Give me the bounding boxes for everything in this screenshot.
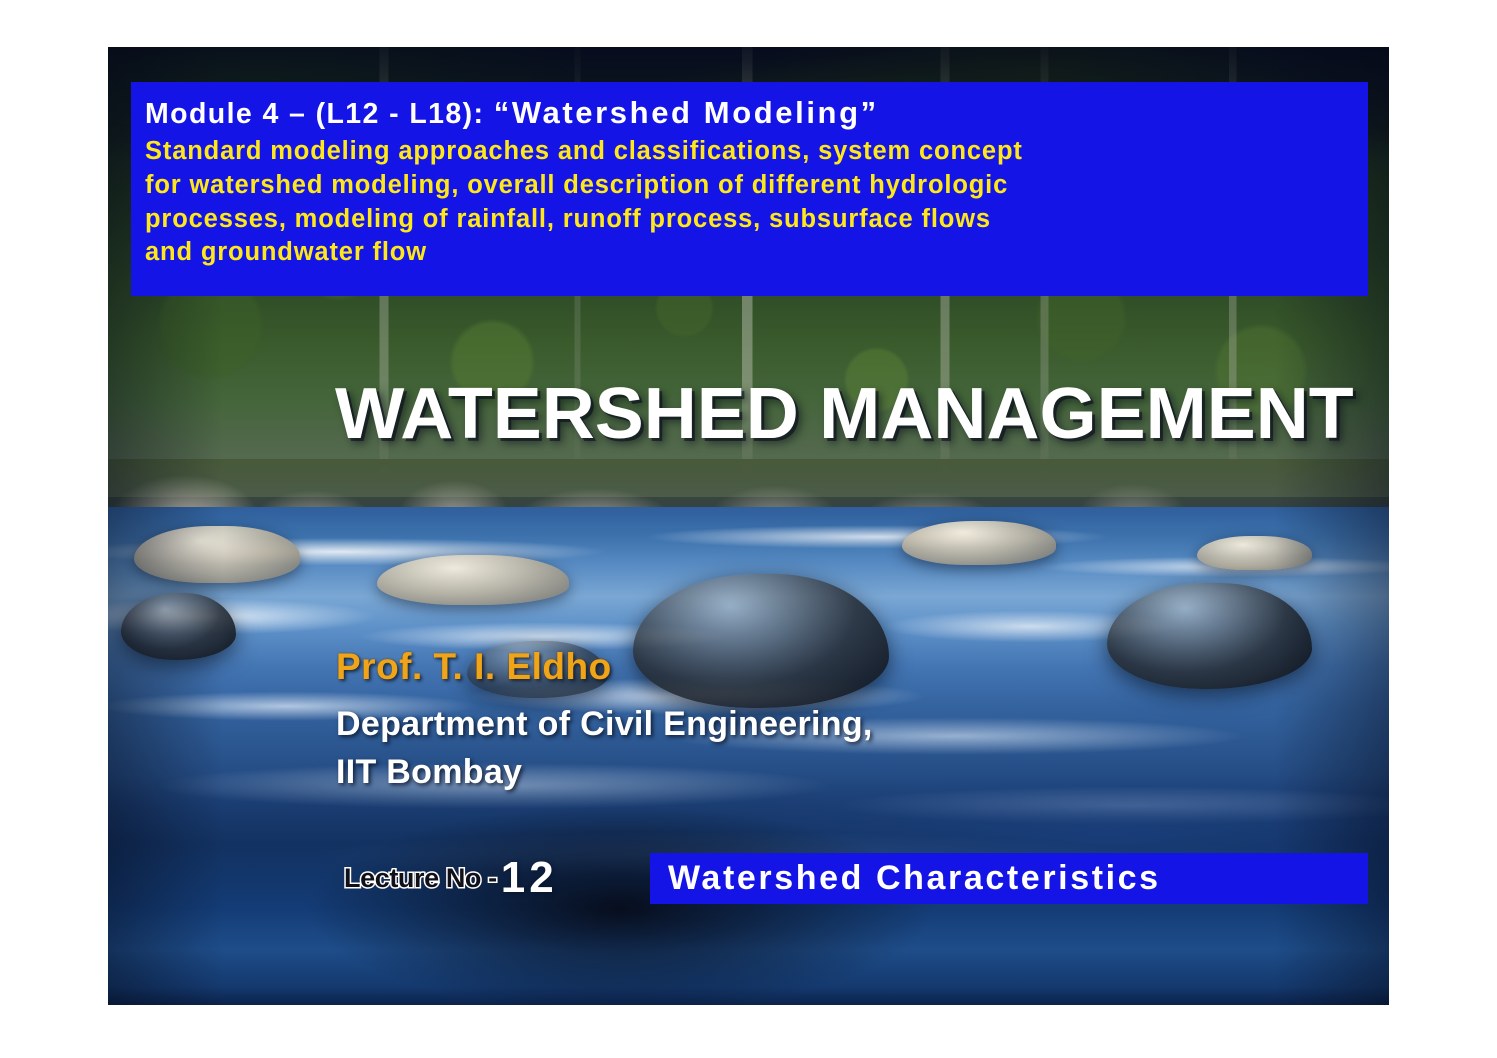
module-heading: Module 4 – (L12 - L18): “Watershed Model… xyxy=(145,94,1368,133)
module-heading-quoted: “Watershed Modeling” xyxy=(494,95,879,130)
module-description-line: for watershed modeling, overall descript… xyxy=(145,169,1368,203)
module-description: Standard modeling approaches and classif… xyxy=(145,135,1368,271)
river-boulder xyxy=(1107,583,1312,688)
author-affiliation-line: IIT Bombay xyxy=(336,755,873,789)
module-description-line: Standard modeling approaches and classif… xyxy=(145,135,1368,169)
river-rock xyxy=(1197,536,1312,570)
author-affiliation-line: Department of Civil Engineering, xyxy=(336,707,873,741)
lecture-number: 12 xyxy=(501,853,558,903)
river-rock xyxy=(134,526,301,583)
module-title-banner: Module 4 – (L12 - L18): “Watershed Model… xyxy=(131,82,1368,296)
lecture-topic-text: Watershed Characteristics xyxy=(650,859,1161,898)
lecture-number-group: Lecture No - 12 xyxy=(344,852,558,904)
river-rock xyxy=(902,521,1056,565)
river-boulder xyxy=(121,593,236,660)
module-description-line: processes, modeling of rainfall, runoff … xyxy=(145,203,1368,237)
module-heading-prefix: Module 4 – (L12 - L18): xyxy=(145,98,494,130)
author-name: Prof. T. I. Eldho xyxy=(336,648,873,685)
author-block: Prof. T. I. Eldho Department of Civil En… xyxy=(336,648,873,803)
lecture-topic-banner: Watershed Characteristics xyxy=(650,853,1368,904)
module-description-line: and groundwater flow xyxy=(145,236,1368,270)
river-rock xyxy=(377,555,569,605)
course-title: WATERSHED MANAGEMENT xyxy=(335,378,1233,450)
lecture-no-label: Lecture No - xyxy=(344,863,497,894)
